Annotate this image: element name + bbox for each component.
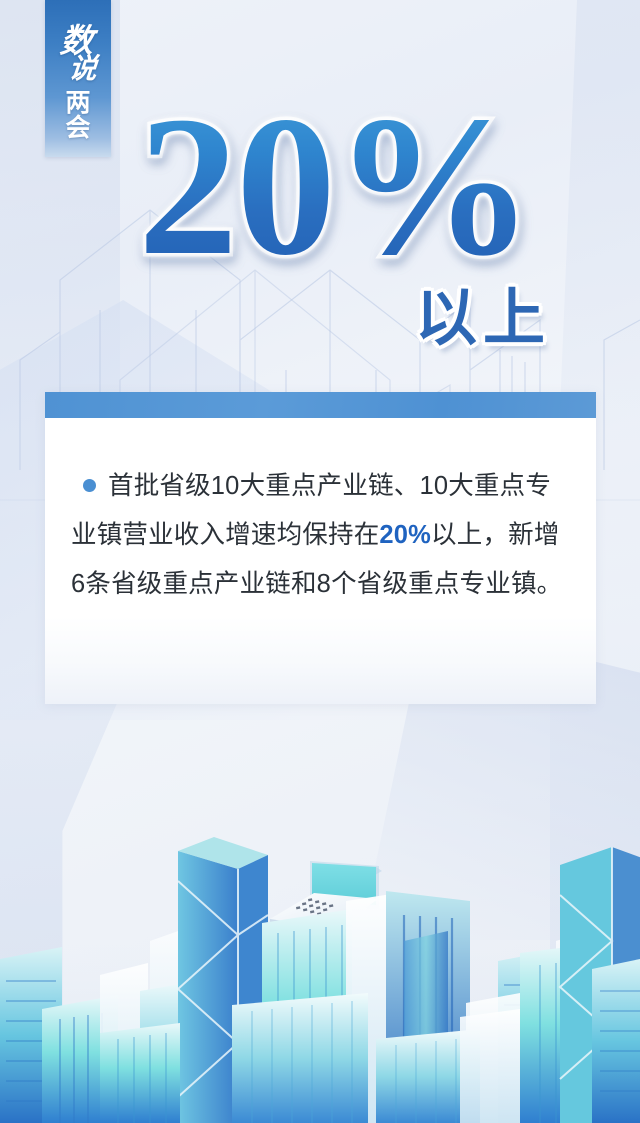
card-body: 首批省级10大重点产业链、10大重点专业镇营业收入增速均保持在20%以上，新增6… bbox=[45, 418, 596, 609]
city-skyline-illustration bbox=[0, 823, 640, 1123]
card-text-highlight: 20% bbox=[379, 521, 431, 549]
bullet-dot-icon bbox=[83, 479, 96, 492]
banner-char-shuo: 说 bbox=[67, 56, 97, 85]
poster-root: 数说 两 会 20% 20% 以上 首批省级10大重点产业链、10大重点专业镇营… bbox=[0, 0, 640, 1123]
content-card: 首批省级10大重点产业链、10大重点专业镇营业收入增速均保持在20%以上，新增6… bbox=[45, 392, 596, 704]
banner-title-line1: 数说 bbox=[56, 26, 99, 84]
hero-suffix: 以上 bbox=[415, 288, 551, 350]
hero-headline: 20% 20% 以上 bbox=[0, 92, 640, 392]
card-header-bar bbox=[45, 392, 596, 418]
hero-number: 20% bbox=[138, 92, 532, 282]
